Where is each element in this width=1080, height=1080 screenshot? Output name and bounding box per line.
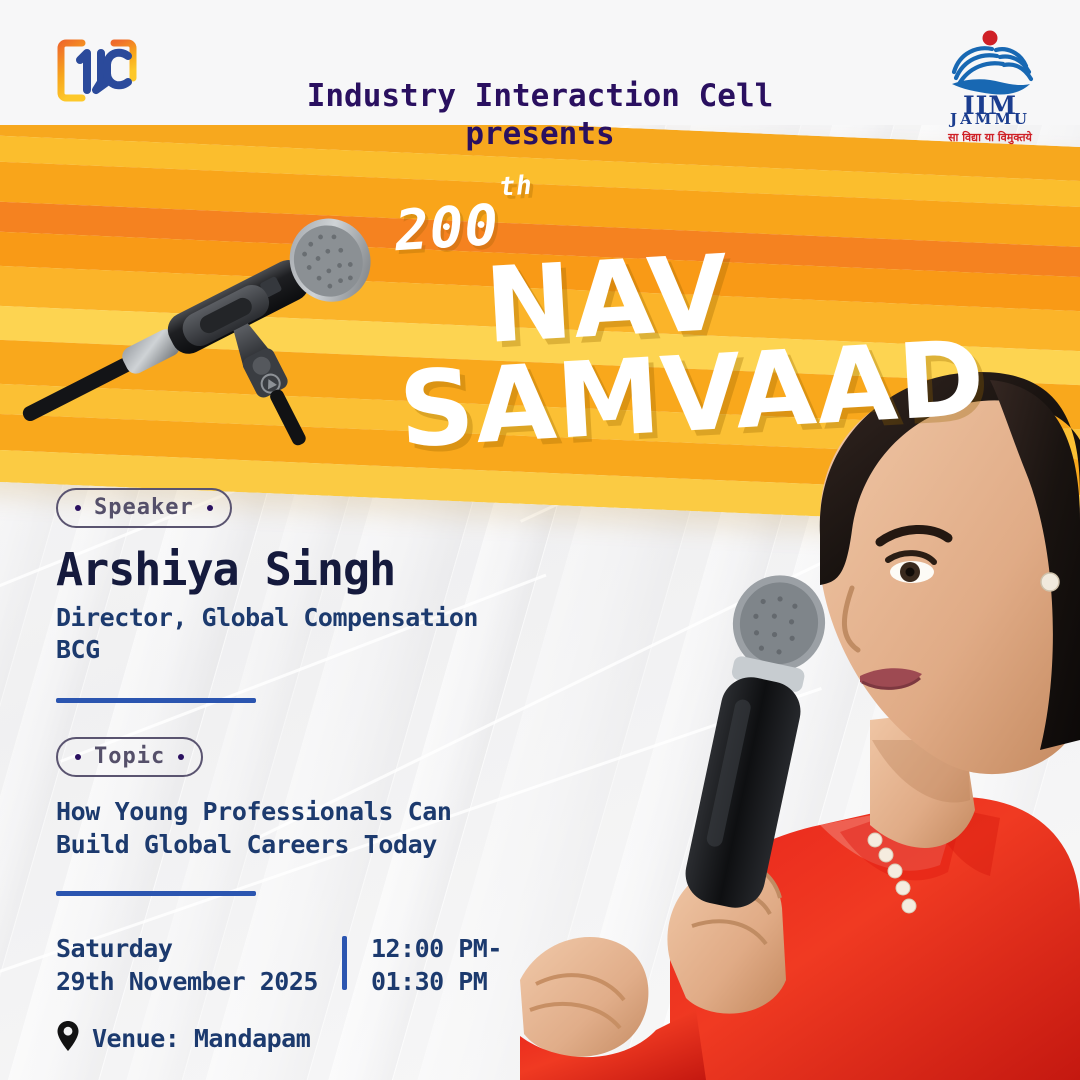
event-time-line1: 12:00 PM- [371,932,502,965]
event-time: 12:00 PM- 01:30 PM [371,932,502,998]
topic-badge-label: Topic [94,744,165,769]
speaker-name: Arshiya Singh [56,546,526,593]
topic-badge-wrap: Topic [56,737,526,777]
content-column: Speaker Arshiya Singh Director, Global C… [56,488,526,1056]
topic-text: How Young Professionals Can Build Global… [56,796,526,861]
iim-jammu-logo: IIM JAMMU सा विद्या या विमुक्तये [934,26,1046,126]
badge-dot-left [75,505,81,511]
event-poster: Industry Interaction Cell presents IIM J… [0,0,1080,1080]
header-title-line2: presents [0,119,1080,150]
badge-dot-left [75,754,81,760]
speaker-badge-label: Speaker [94,495,194,520]
speaker-role-title: Director, Global Compensation [56,602,526,634]
location-pin-icon [56,1020,80,1056]
badge-dot-right [178,754,184,760]
header-title: Industry Interaction Cell presents [0,50,1080,181]
divider-speaker [56,698,256,703]
topic-line1: How Young Professionals Can [56,796,526,829]
header-title-line1: Industry Interaction Cell [307,78,774,114]
datetime-separator [342,936,347,990]
iim-logo-motto: सा विद्या या विमुक्तये [934,130,1046,145]
poster-header: Industry Interaction Cell presents IIM J… [0,0,1080,125]
topic-badge: Topic [56,737,203,777]
event-datetime: Saturday 29th November 2025 12:00 PM- 01… [56,932,526,998]
event-date: Saturday 29th November 2025 [56,932,318,998]
banner-title-line2: SAMVAAD [397,330,988,458]
speaker-company: BCG [56,634,526,666]
event-date-value: 29th November 2025 [56,965,318,998]
event-time-line2: 01:30 PM [371,965,502,998]
divider-topic [56,891,256,896]
venue-label: Venue: Mandapam [92,1024,310,1053]
speaker-role: Director, Global Compensation BCG [56,602,526,666]
topic-line2: Build Global Careers Today [56,829,526,862]
microphone-icon [0,180,380,480]
speaker-badge: Speaker [56,488,232,528]
event-day: Saturday [56,932,318,965]
banner-title: 200th NAV SAMVAAD [395,196,986,442]
iim-logo-sun-dot [983,31,998,46]
badge-dot-right [207,505,213,511]
iim-logo-city: JAMMU [934,110,1046,128]
event-venue: Venue: Mandapam [56,1020,526,1056]
